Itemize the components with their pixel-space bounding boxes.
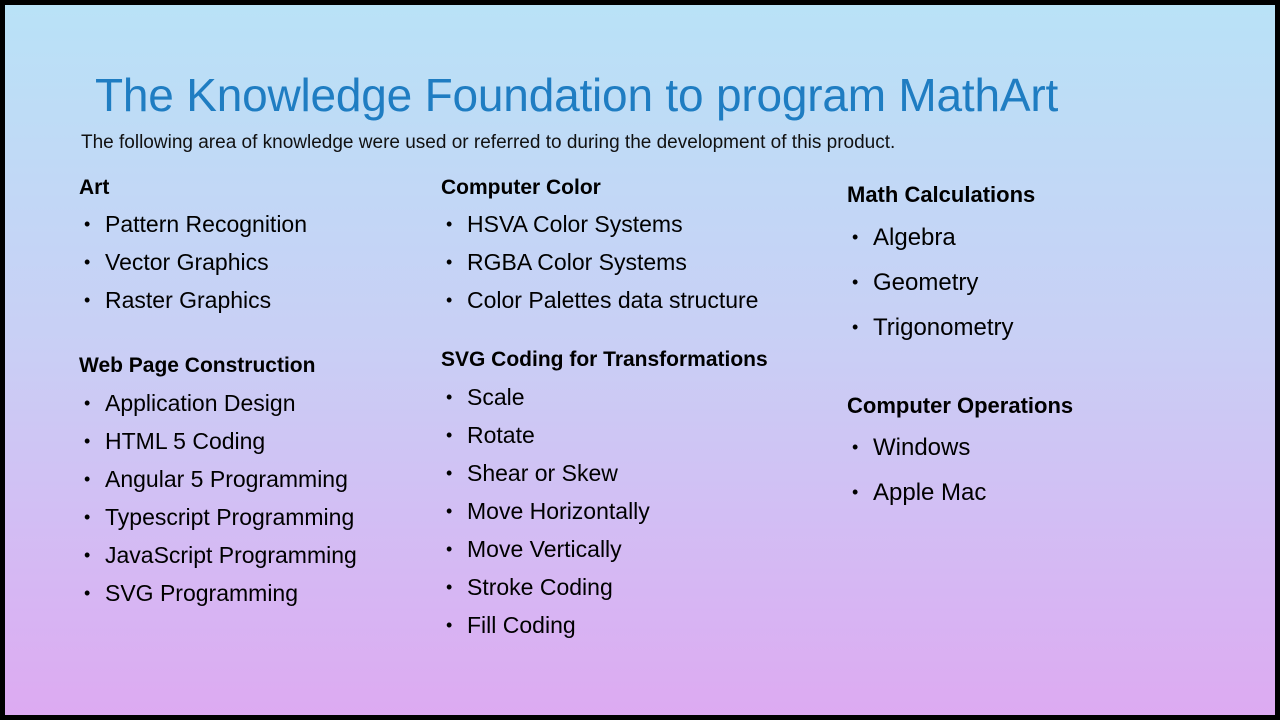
list-item: •Windows (847, 425, 1247, 470)
list-item-label: Geometry (873, 269, 978, 296)
group-heading: SVG Coding for Transformations (441, 347, 841, 373)
list-item-label: Apple Mac (873, 479, 986, 506)
bullet-dot-icon: • (84, 422, 90, 460)
group-heading: Computer Operations (847, 392, 1247, 420)
list-item: •Color Palettes data structure (441, 281, 841, 319)
slide-canvas: The Knowledge Foundation to program Math… (0, 0, 1280, 720)
bullet-dot-icon: • (446, 530, 452, 568)
content-column-2: Computer Color•HSVA Color Systems•RGBA C… (441, 175, 841, 644)
subtitle-text: The following area of knowledge were use… (81, 131, 1201, 156)
list-item-label: Move Vertically (467, 536, 622, 562)
bullet-dot-icon: • (446, 568, 452, 606)
knowledge-group: Computer Color•HSVA Color Systems•RGBA C… (441, 175, 841, 319)
bullet-dot-icon: • (446, 606, 452, 644)
bullet-dot-icon: • (84, 281, 90, 319)
list-item-label: Scale (467, 384, 525, 410)
bullet-dot-icon: • (852, 260, 858, 305)
list-item: •Vector Graphics (79, 243, 439, 281)
bullet-dot-icon: • (84, 574, 90, 612)
knowledge-group: Web Page Construction•Application Design… (79, 353, 439, 611)
bullet-dot-icon: • (852, 215, 858, 260)
knowledge-group: Computer Operations•Windows•Apple Mac (847, 392, 1247, 516)
list-item-label: HTML 5 Coding (105, 428, 265, 454)
list-item: •Apple Mac (847, 470, 1247, 515)
bullet-list: •Pattern Recognition•Vector Graphics•Ras… (79, 205, 439, 319)
list-item-label: Pattern Recognition (105, 211, 307, 237)
group-heading: Art (79, 175, 439, 201)
list-item: •Rotate (441, 416, 841, 454)
bullet-dot-icon: • (446, 492, 452, 530)
list-item: •HSVA Color Systems (441, 205, 841, 243)
list-item: •Application Design (79, 384, 439, 422)
content-column-3: Math Calculations•Algebra•Geometry•Trigo… (847, 181, 1247, 515)
list-item: •Pattern Recognition (79, 205, 439, 243)
list-item-label: RGBA Color Systems (467, 249, 687, 275)
list-item: •Angular 5 Programming (79, 460, 439, 498)
list-item: •HTML 5 Coding (79, 422, 439, 460)
group-heading: Web Page Construction (79, 353, 439, 379)
list-item: •Raster Graphics (79, 281, 439, 319)
bullet-list: •Windows•Apple Mac (847, 425, 1247, 515)
page-title: The Knowledge Foundation to program Math… (95, 70, 1195, 121)
list-item: •Fill Coding (441, 606, 841, 644)
list-item-label: Stroke Coding (467, 574, 613, 600)
list-item-label: Application Design (105, 390, 296, 416)
list-item: •RGBA Color Systems (441, 243, 841, 281)
list-item-label: Typescript Programming (105, 504, 354, 530)
list-item: •Move Vertically (441, 530, 841, 568)
list-item-label: Shear or Skew (467, 460, 618, 486)
list-item-label: Algebra (873, 224, 956, 251)
content-column-1: Art•Pattern Recognition•Vector Graphics•… (79, 175, 439, 612)
bullet-dot-icon: • (446, 205, 452, 243)
list-item-label: Vector Graphics (105, 249, 269, 275)
bullet-dot-icon: • (446, 416, 452, 454)
group-heading: Computer Color (441, 175, 841, 201)
list-item-label: Rotate (467, 422, 535, 448)
bullet-dot-icon: • (84, 384, 90, 422)
bullet-dot-icon: • (852, 305, 858, 350)
knowledge-group: SVG Coding for Transformations•Scale•Rot… (441, 347, 841, 643)
bullet-dot-icon: • (446, 281, 452, 319)
list-item: •Trigonometry (847, 305, 1247, 350)
bullet-dot-icon: • (84, 460, 90, 498)
bullet-dot-icon: • (852, 470, 858, 515)
bullet-list: •Scale•Rotate•Shear or Skew•Move Horizon… (441, 378, 841, 644)
list-item: •Algebra (847, 215, 1247, 260)
list-item-label: SVG Programming (105, 580, 298, 606)
list-item: •SVG Programming (79, 574, 439, 612)
list-item: •Scale (441, 378, 841, 416)
bullet-list: •HSVA Color Systems•RGBA Color Systems•C… (441, 205, 841, 319)
group-heading: Math Calculations (847, 181, 1247, 209)
bullet-dot-icon: • (446, 243, 452, 281)
bullet-dot-icon: • (84, 536, 90, 574)
list-item-label: Color Palettes data structure (467, 287, 758, 313)
list-item: •Shear or Skew (441, 454, 841, 492)
list-item-label: JavaScript Programming (105, 542, 357, 568)
bullet-dot-icon: • (84, 243, 90, 281)
list-item: •Stroke Coding (441, 568, 841, 606)
list-item: •Geometry (847, 260, 1247, 305)
bullet-list: •Algebra•Geometry•Trigonometry (847, 215, 1247, 350)
bullet-list: •Application Design•HTML 5 Coding•Angula… (79, 384, 439, 612)
bullet-dot-icon: • (84, 498, 90, 536)
list-item-label: Windows (873, 434, 970, 461)
list-item-label: Trigonometry (873, 314, 1013, 341)
bullet-dot-icon: • (446, 454, 452, 492)
list-item-label: Move Horizontally (467, 498, 650, 524)
bullet-dot-icon: • (852, 425, 858, 470)
list-item: •Move Horizontally (441, 492, 841, 530)
list-item: •JavaScript Programming (79, 536, 439, 574)
knowledge-group: Math Calculations•Algebra•Geometry•Trigo… (847, 181, 1247, 350)
knowledge-group: Art•Pattern Recognition•Vector Graphics•… (79, 175, 439, 319)
list-item: •Typescript Programming (79, 498, 439, 536)
list-item-label: Raster Graphics (105, 287, 271, 313)
list-item-label: Fill Coding (467, 612, 576, 638)
bullet-dot-icon: • (84, 205, 90, 243)
bullet-dot-icon: • (446, 378, 452, 416)
list-item-label: HSVA Color Systems (467, 211, 683, 237)
list-item-label: Angular 5 Programming (105, 466, 348, 492)
